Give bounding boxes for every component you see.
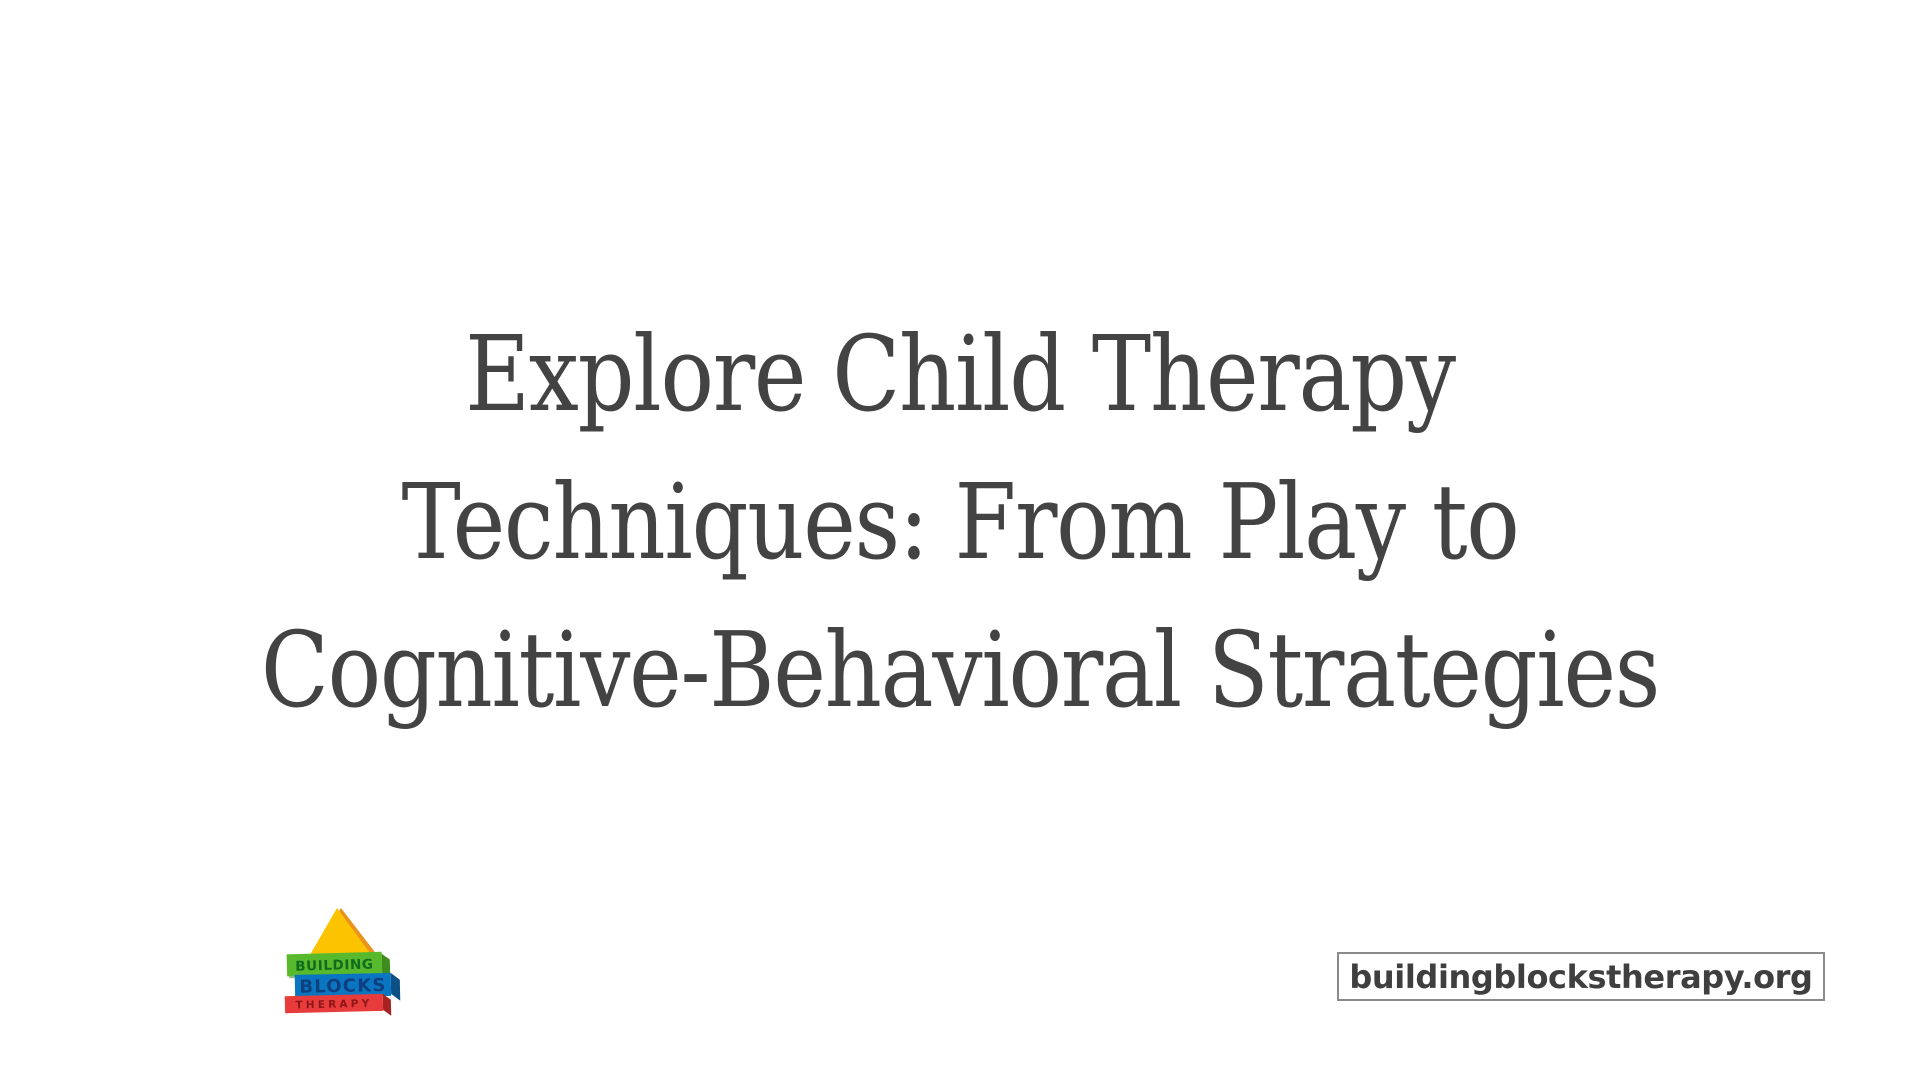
- slide-canvas: Explore Child Therapy Techniques: From P…: [0, 0, 1920, 1080]
- headline-line-1: Explore Child Therapy: [139, 300, 1781, 448]
- website-url-text: buildingblockstherapy.org: [1349, 958, 1812, 996]
- building-blocks-therapy-logo: BUILDING BLOCKS THERAPY: [263, 895, 413, 1020]
- page-title: Explore Child Therapy Techniques: From P…: [0, 300, 1920, 744]
- headline-line-2: Techniques: From Play to: [139, 448, 1781, 596]
- logo-roof-triangle: [307, 908, 375, 960]
- headline-line-3: Cognitive-Behavioral Strategies: [139, 596, 1781, 744]
- svg-text:THERAPY: THERAPY: [295, 998, 372, 1012]
- website-url-badge[interactable]: buildingblockstherapy.org: [1337, 952, 1825, 1001]
- logo-block-therapy: THERAPY: [285, 994, 392, 1019]
- svg-text:BUILDING: BUILDING: [295, 957, 374, 975]
